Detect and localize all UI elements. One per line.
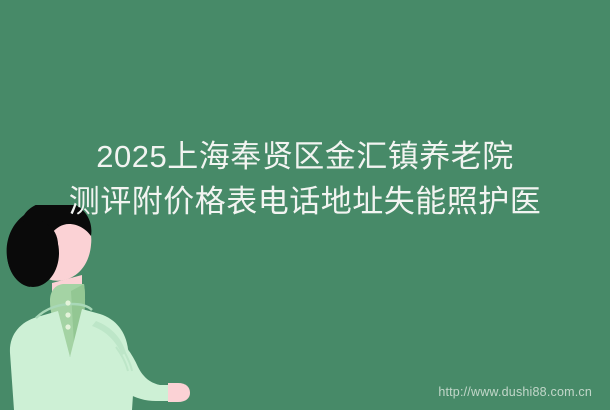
collar-button-2	[65, 312, 70, 317]
hair-volume	[7, 219, 59, 287]
person-illustration	[0, 205, 200, 410]
collar-button-3	[65, 324, 70, 329]
cover-title-line-2: 测评附价格表电话地址失能照护医	[26, 179, 584, 224]
cover-title-line-1: 2025上海奉贤区金汇镇养老院	[26, 134, 584, 179]
cover-image-canvas: 2025上海奉贤区金汇镇养老院 测评附价格表电话地址失能照护医 http://w…	[0, 0, 610, 410]
hand-shape	[168, 383, 190, 402]
cover-title: 2025上海奉贤区金汇镇养老院 测评附价格表电话地址失能照护医	[0, 134, 610, 224]
watermark-url: http://www.dushi88.com.cn	[438, 385, 592, 399]
collar-button-1	[65, 300, 70, 305]
